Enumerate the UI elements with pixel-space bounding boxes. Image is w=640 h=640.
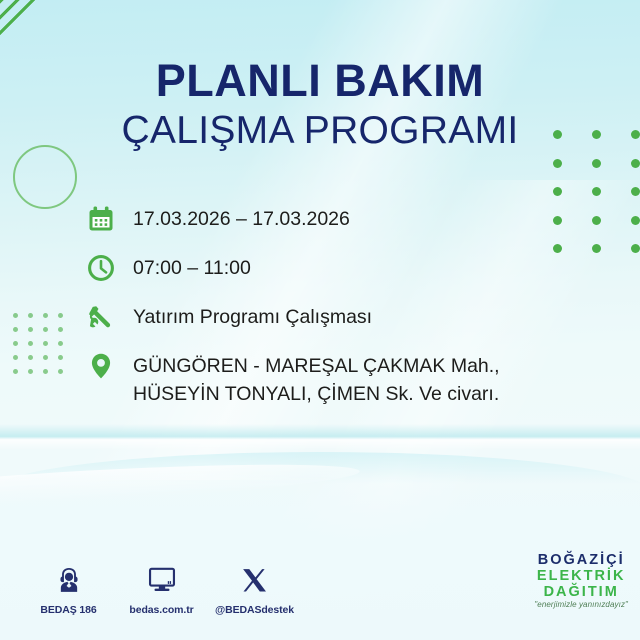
planned-maintenance-poster: PLANLI BAKIM ÇALIŞMA PROGRAMI — [0, 0, 640, 640]
contact-label-x-social: @BEDASdestek — [215, 604, 294, 616]
detail-row-time: 07:00 – 11:00 — [86, 253, 586, 283]
brand-line-elektrik: ELEKTRİK — [534, 568, 628, 584]
footer-contacts: BEDAŞ 186 bedas.com.tr @BEDASdestek — [22, 560, 301, 618]
background-wave-highlight — [0, 456, 360, 513]
detail-row-worktype: Yatırım Programı Çalışması — [86, 302, 586, 332]
contact-label-website: bedas.com.tr — [129, 604, 193, 616]
detail-text-worktype: Yatırım Programı Çalışması — [133, 302, 372, 332]
brand-tagline: "enerjimizle yanınızdayız" — [534, 601, 628, 610]
page-title: PLANLI BAKIM ÇALIŞMA PROGRAMI — [0, 58, 640, 150]
brand-line-dagitim: DAĞITIM — [534, 584, 628, 600]
background-wave-curve — [0, 452, 640, 492]
brand-line-bogazici: BOĞAZİÇİ — [534, 552, 628, 568]
contact-label-call-center: BEDAŞ 186 — [40, 604, 96, 616]
detail-line: 07:00 – 11:00 — [133, 255, 251, 283]
monitor-icon — [115, 560, 208, 600]
detail-row-location: GÜNGÖREN - MAREŞAL ÇAKMAK Mah., HÜSEYİN … — [86, 351, 586, 408]
contact-call-center[interactable]: BEDAŞ 186 — [22, 560, 115, 618]
detail-line: HÜSEYİN TONYALI, ÇİMEN Sk. Ve civarı. — [133, 381, 500, 409]
call-center-agent-icon — [22, 560, 115, 600]
x-twitter-icon — [208, 560, 301, 600]
tools-icon — [86, 302, 116, 332]
contact-website[interactable]: bedas.com.tr — [115, 560, 208, 618]
maintenance-details-list: 17.03.2026 – 17.03.2026 07:00 – 11:00 — [86, 204, 586, 408]
clock-icon — [86, 253, 116, 283]
detail-line: 17.03.2026 – 17.03.2026 — [133, 206, 350, 234]
dot-grid-left-decoration — [13, 313, 73, 383]
location-pin-icon — [86, 351, 116, 381]
title-subtitle: ÇALIŞMA PROGRAMI — [0, 111, 640, 150]
title-main: PLANLI BAKIM — [0, 58, 640, 103]
calendar-icon — [86, 204, 116, 234]
detail-text-date: 17.03.2026 – 17.03.2026 — [133, 204, 350, 234]
detail-line: GÜNGÖREN - MAREŞAL ÇAKMAK Mah., — [133, 353, 500, 381]
contact-x-social[interactable]: @BEDASdestek — [208, 560, 301, 618]
detail-line: Yatırım Programı Çalışması — [133, 304, 372, 332]
brand-logo: BOĞAZİÇİ ELEKTRİK DAĞITIM "enerjimizle y… — [534, 552, 628, 610]
background-wave-line — [0, 424, 640, 450]
detail-row-date: 17.03.2026 – 17.03.2026 — [86, 204, 586, 234]
detail-text-location: GÜNGÖREN - MAREŞAL ÇAKMAK Mah., HÜSEYİN … — [133, 351, 500, 408]
circle-outline-decoration — [13, 145, 77, 209]
detail-text-time: 07:00 – 11:00 — [133, 253, 251, 283]
